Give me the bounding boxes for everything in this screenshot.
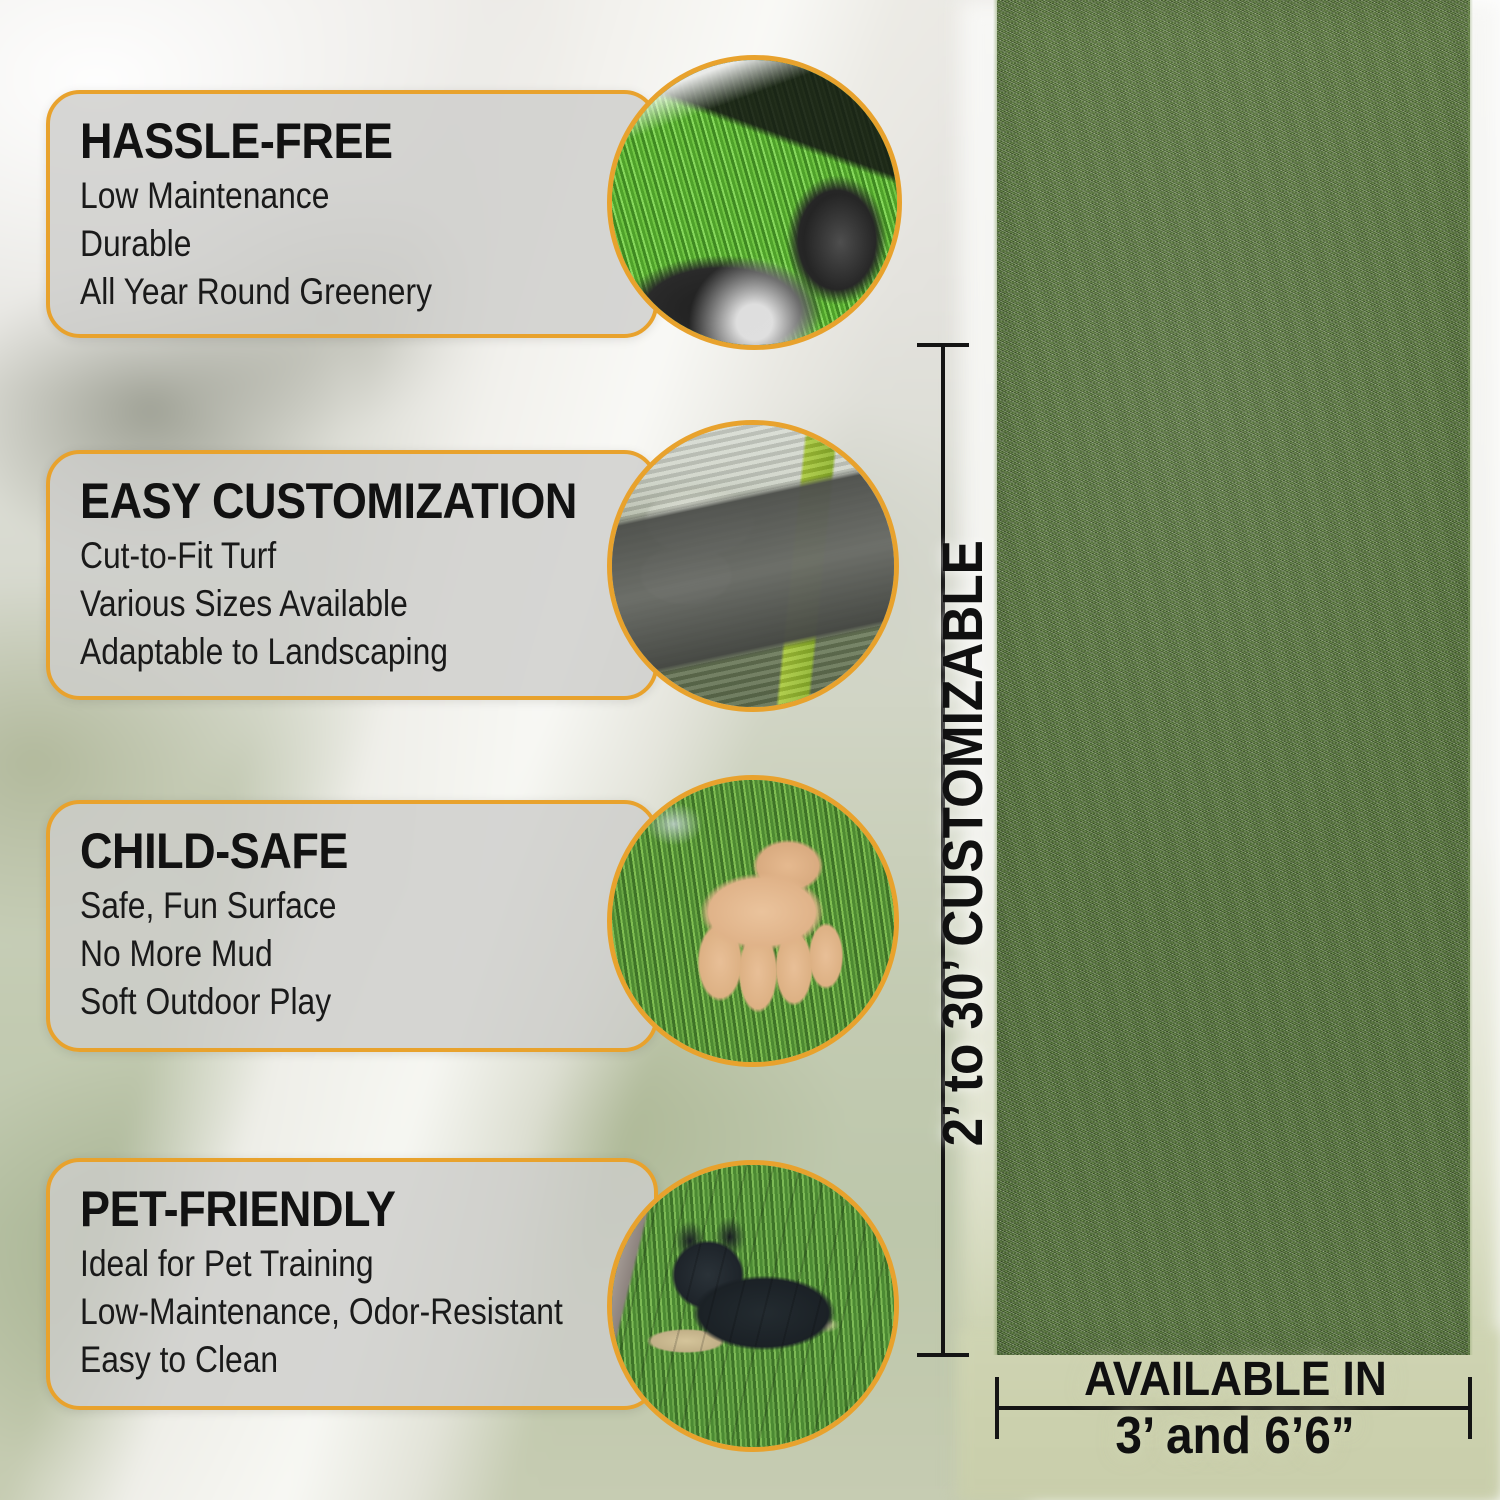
feature-title: HASSLE-FREE: [80, 116, 571, 166]
feature-bullet: Safe, Fun Surface: [80, 882, 550, 930]
feature-title: CHILD-SAFE: [80, 826, 571, 876]
length-measure-bottom-cap: [917, 1353, 969, 1357]
turf-installation-image: [612, 425, 894, 707]
feature-bullet-list: Ideal for Pet Training Low-Maintenance, …: [80, 1240, 626, 1384]
feature-photo-dog-on-turf: [607, 1160, 899, 1452]
turf-roll-product: [997, 0, 1470, 1355]
feature-title: EASY CUSTOMIZATION: [80, 476, 571, 526]
feature-photo-rolled-turf: [607, 55, 902, 350]
feature-card-hassle-free: HASSLE-FREE Low Maintenance Durable All …: [46, 90, 658, 338]
feature-photo-child-hand: [607, 775, 899, 1067]
length-measure-label: 2’ to 30’ CUSTOMIZABLE: [930, 338, 996, 1348]
feature-bullet-list: Low Maintenance Durable All Year Round G…: [80, 172, 626, 316]
infographic-canvas: HASSLE-FREE Low Maintenance Durable All …: [0, 0, 1500, 1500]
feature-bullet: All Year Round Greenery: [80, 268, 550, 316]
feature-card-child-safe: CHILD-SAFE Safe, Fun Surface No More Mud…: [46, 800, 658, 1052]
dog-on-turf-image: [612, 1165, 894, 1447]
feature-bullet-list: Safe, Fun Surface No More Mud Soft Outdo…: [80, 882, 626, 1026]
turf-roll-right-edge: [1468, 0, 1473, 1355]
rolled-turf-image: [612, 60, 897, 345]
feature-bullet: Easy to Clean: [80, 1336, 550, 1384]
feature-bullet: Various Sizes Available: [80, 580, 550, 628]
feature-bullet: Low Maintenance: [80, 172, 550, 220]
feature-bullet: Soft Outdoor Play: [80, 978, 550, 1026]
available-sizes-caption: AVAILABLE IN 3’ and 6’6”: [980, 1356, 1490, 1462]
available-in-label: AVAILABLE IN: [1084, 1356, 1387, 1404]
feature-bullet: No More Mud: [80, 930, 550, 978]
feature-bullet: Durable: [80, 220, 550, 268]
feature-title: PET-FRIENDLY: [80, 1184, 571, 1234]
feature-photo-turf-installation: [607, 420, 899, 712]
feature-bullet: Cut-to-Fit Turf: [80, 532, 550, 580]
available-sizes-value: 3’ and 6’6”: [1115, 1410, 1354, 1462]
feature-card-easy-customization: EASY CUSTOMIZATION Cut-to-Fit Turf Vario…: [46, 450, 658, 700]
feature-bullet-list: Cut-to-Fit Turf Various Sizes Available …: [80, 532, 626, 676]
feature-bullet: Low-Maintenance, Odor-Resistant: [80, 1288, 550, 1336]
feature-card-pet-friendly: PET-FRIENDLY Ideal for Pet Training Low-…: [46, 1158, 658, 1410]
feature-bullet: Ideal for Pet Training: [80, 1240, 550, 1288]
feature-bullet: Adaptable to Landscaping: [80, 628, 550, 676]
length-measure-text: 2’ to 30’ CUSTOMIZABLE: [930, 540, 996, 1146]
child-hand-on-turf-image: [612, 780, 894, 1062]
